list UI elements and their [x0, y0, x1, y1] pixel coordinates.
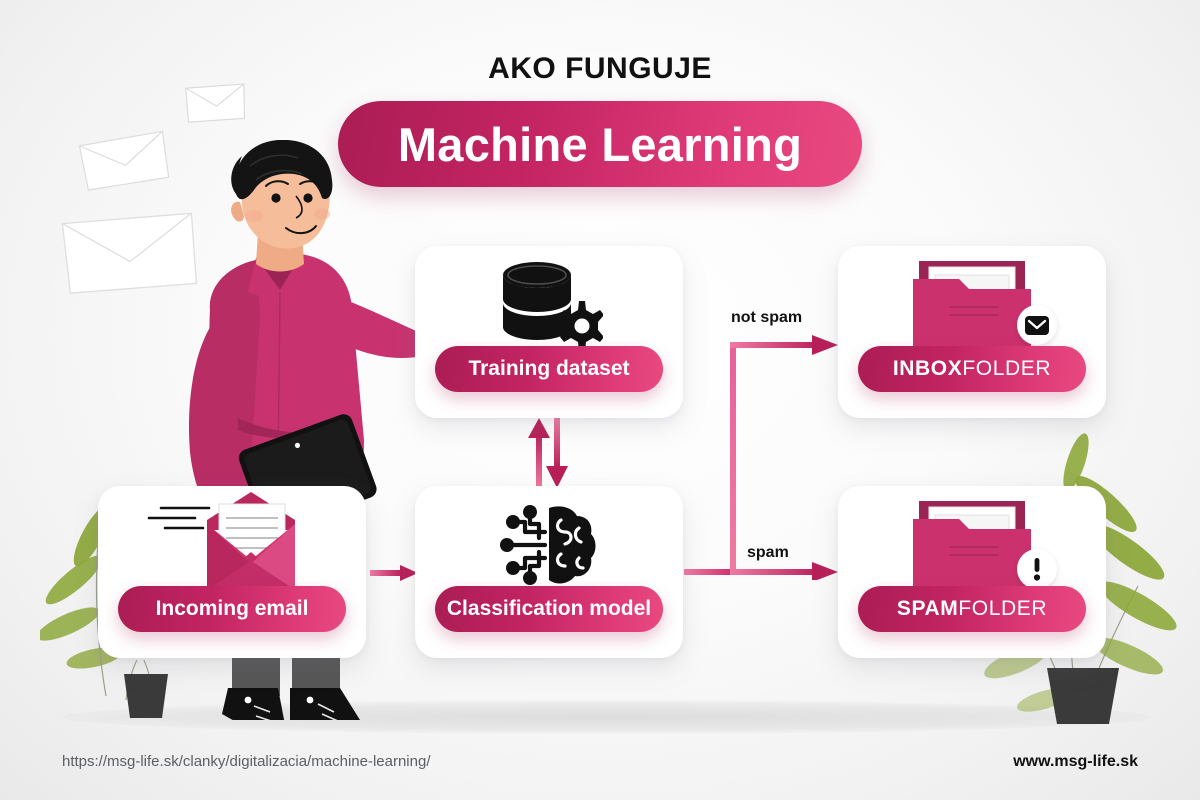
connector-training-model-bidirectional: [524, 418, 572, 488]
plant-pot-left: [122, 660, 192, 720]
node-card-incoming-email[interactable]: Incoming email: [98, 486, 366, 658]
node-label-inbox-folder: INBOX FOLDER: [858, 346, 1086, 392]
source-url[interactable]: https://msg-life.sk/clanky/digitalizacia…: [62, 753, 431, 770]
exclamation-badge-icon: [1017, 549, 1057, 589]
page-kicker: AKO FUNGUJE: [0, 52, 1200, 86]
node-label-classification-model: Classification model: [435, 586, 663, 632]
node-label-spam-folder: SPAM FOLDER: [858, 586, 1086, 632]
node-label-text-rest: FOLDER: [962, 357, 1051, 381]
node-card-training-dataset[interactable]: Training dataset: [415, 246, 683, 418]
connector-label-spam: spam: [747, 544, 789, 562]
node-label-text-rest: FOLDER: [958, 597, 1047, 621]
brand-website[interactable]: www.msg-life.sk: [1013, 753, 1138, 771]
node-label-text-bold: SPAM: [897, 597, 959, 621]
plant-pot-right: [1043, 660, 1123, 726]
node-label-text: Training dataset: [468, 357, 629, 381]
envelope-badge-icon: [1017, 305, 1057, 345]
node-card-inbox-folder[interactable]: INBOX FOLDER: [838, 246, 1106, 418]
connector-label-not-spam: not spam: [731, 309, 802, 327]
node-label-text-bold: INBOX: [893, 357, 963, 381]
node-card-classification-model[interactable]: Classification model: [415, 486, 683, 658]
connector-incoming-to-model: [370, 565, 418, 581]
node-label-training-dataset: Training dataset: [435, 346, 663, 392]
node-card-spam-folder[interactable]: SPAM FOLDER: [838, 486, 1106, 658]
connector-model-branch: [684, 330, 840, 580]
infographic-canvas: AKO FUNGUJE Machine Learning: [0, 0, 1200, 800]
node-label-text: Classification model: [447, 597, 651, 621]
node-label-incoming-email: Incoming email: [118, 586, 346, 632]
node-label-text: Incoming email: [156, 597, 309, 621]
